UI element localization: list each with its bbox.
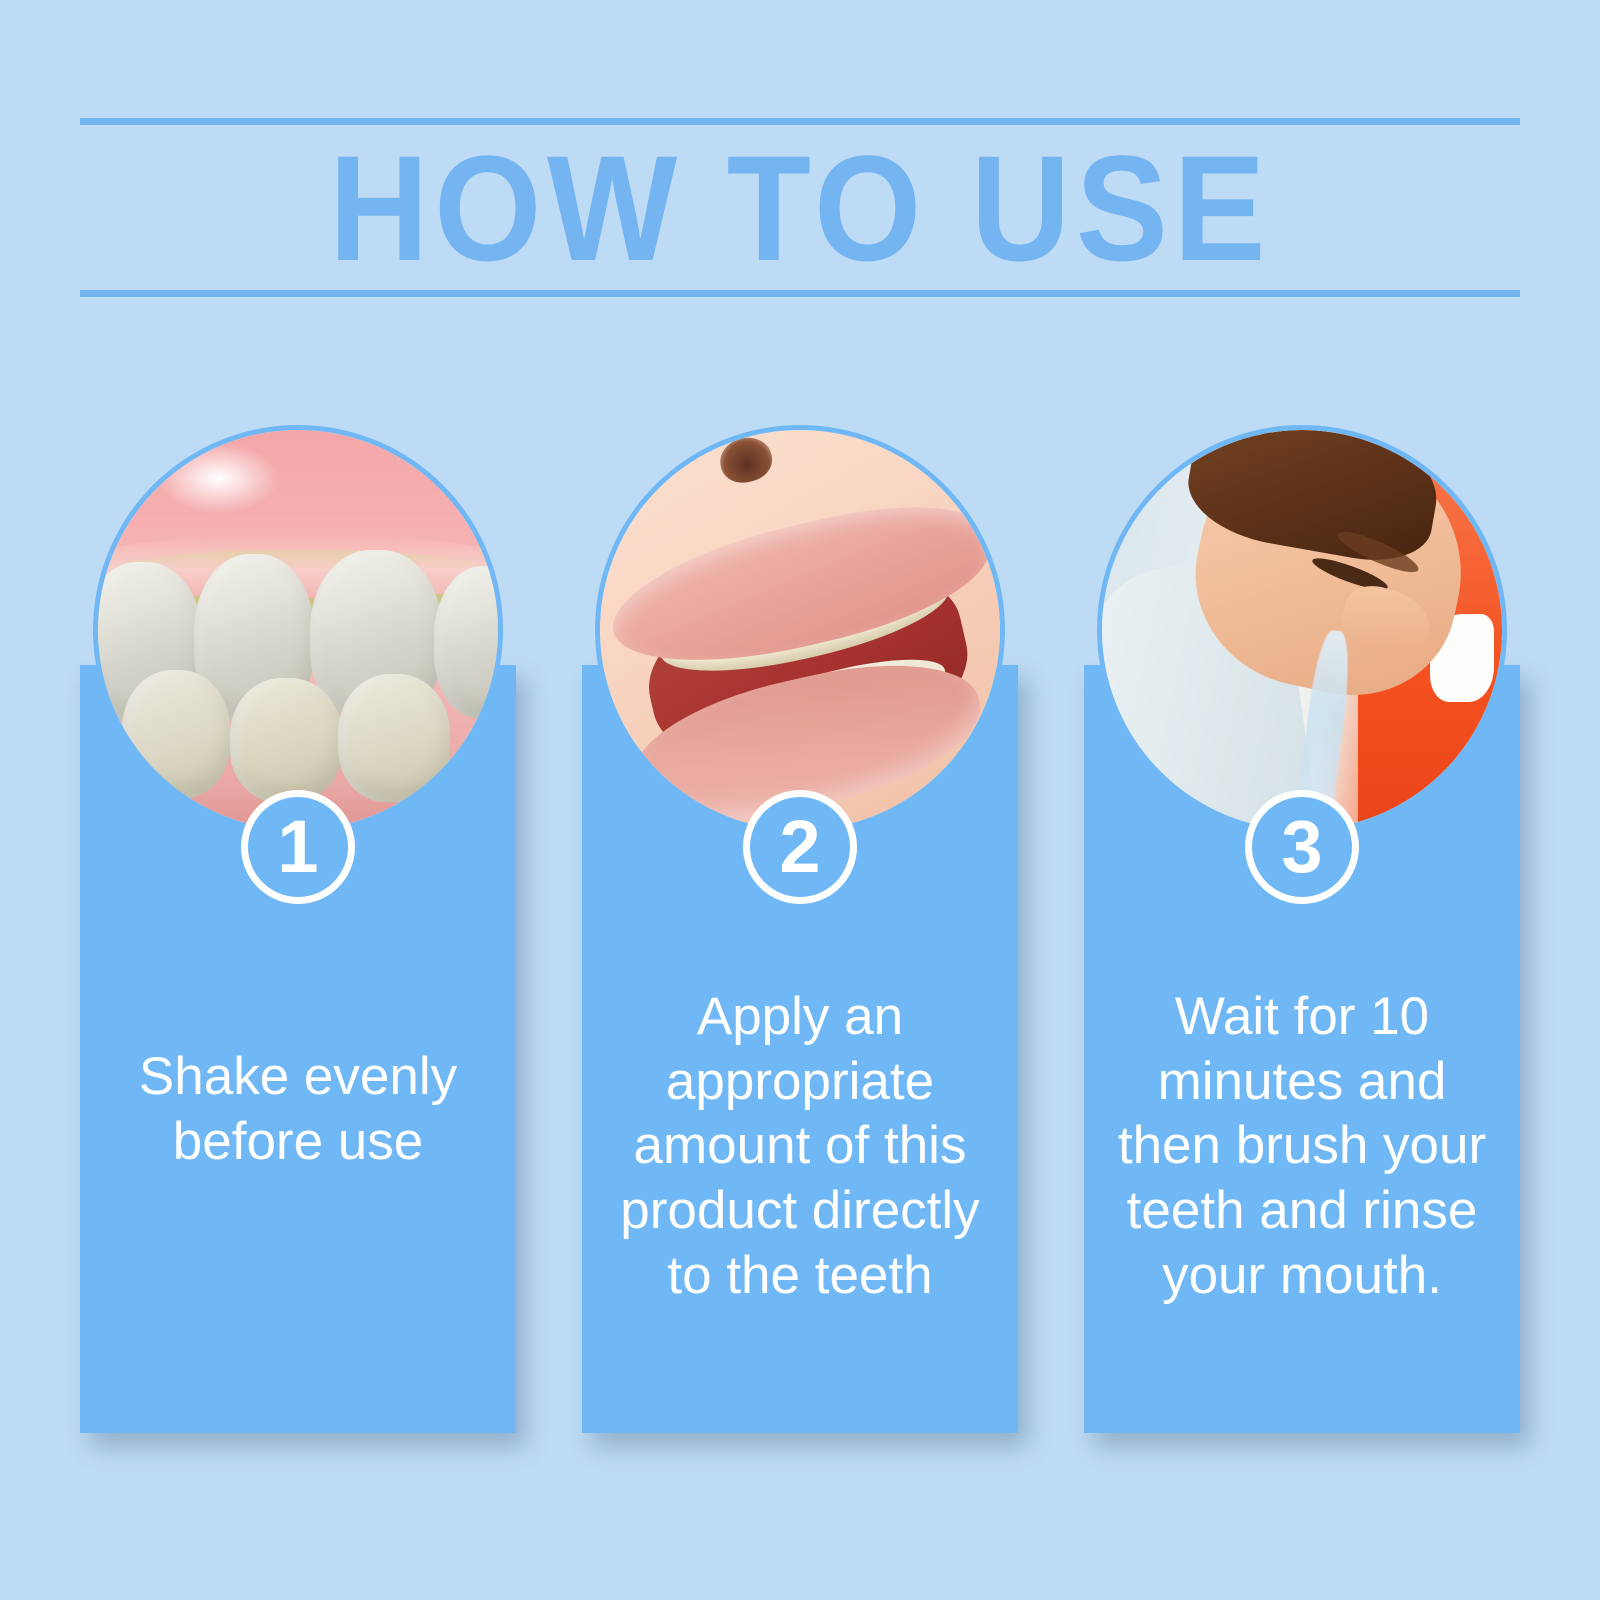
teeth-with-plaque-photo xyxy=(93,425,503,835)
step-caption-1: Shake evenly before use xyxy=(98,1045,498,1174)
step-number-badge-1: 1 xyxy=(241,790,355,904)
step-card-1: 1 Shake evenly before use xyxy=(80,665,516,1433)
woman-rinsing-mouth-photo xyxy=(1097,425,1507,835)
step-card-2: 2 Apply an appropriate amount of this pr… xyxy=(582,665,1018,1433)
steps-container: 1 Shake evenly before use 2 Apply an app… xyxy=(0,0,1600,1600)
step-number-badge-3: 3 xyxy=(1245,790,1359,904)
step-number-badge-2: 2 xyxy=(743,790,857,904)
step-caption-3: Wait for 10 minutes and then brush your … xyxy=(1102,985,1502,1308)
step-caption-2: Apply an appropriate amount of this prod… xyxy=(600,985,1000,1308)
step-card-3: 3 Wait for 10 minutes and then brush you… xyxy=(1084,665,1520,1433)
smiling-mouth-photo xyxy=(595,425,1005,835)
